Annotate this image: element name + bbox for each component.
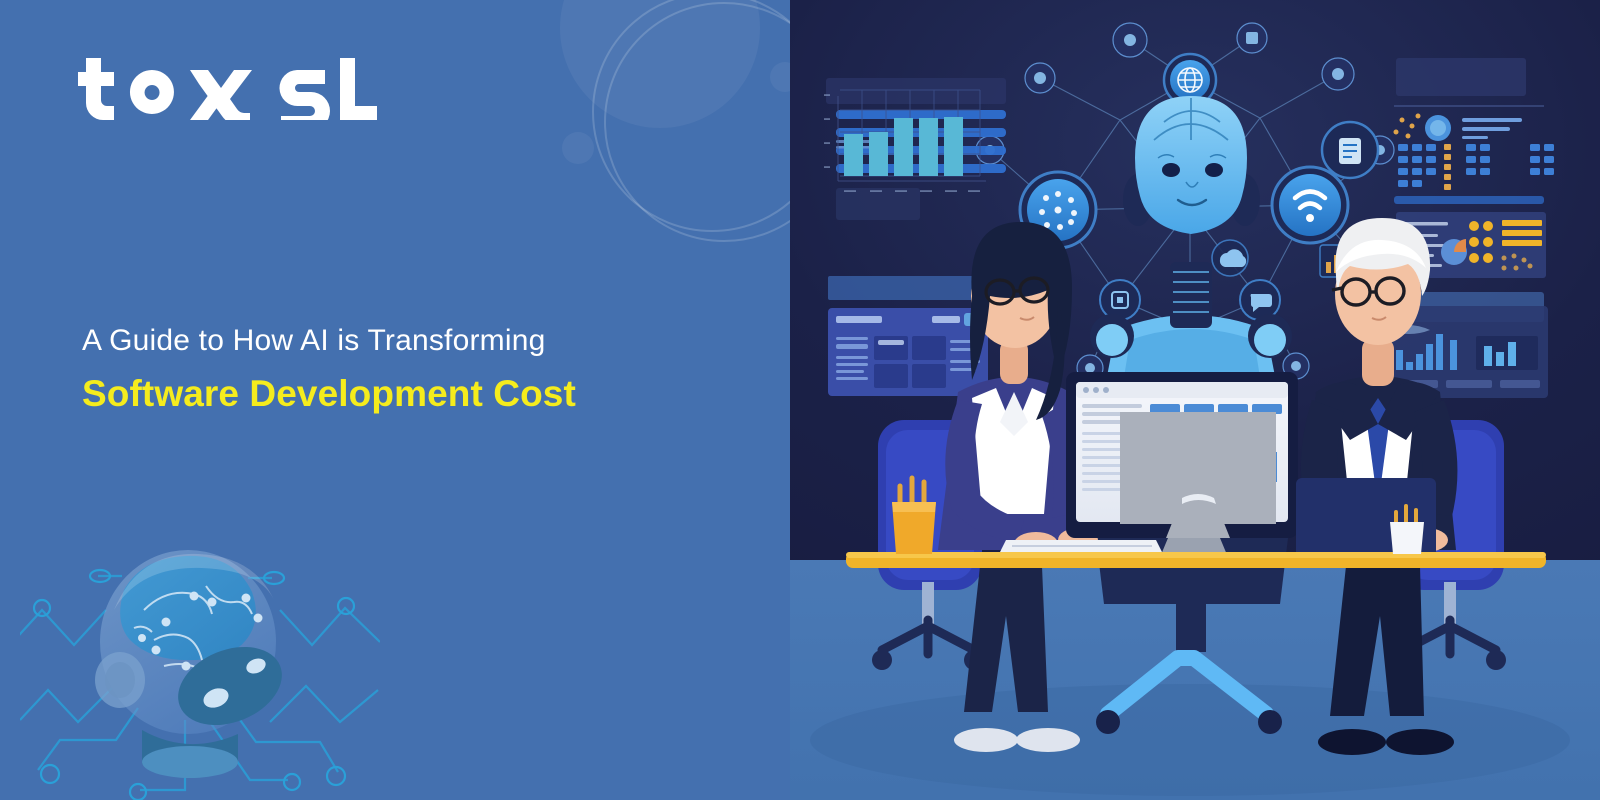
node-wifi-icon	[1272, 167, 1348, 243]
svg-text:▬: ▬	[824, 116, 830, 122]
ai-robot-head-graphic	[20, 490, 380, 800]
banner: toXSL A Guide to How AI i	[0, 0, 1600, 800]
svg-text:▬▬: ▬▬	[920, 188, 932, 194]
analytics-panel-top	[1394, 58, 1555, 204]
desk	[846, 552, 1546, 568]
svg-text:▬▬: ▬▬	[968, 188, 980, 194]
keyboard	[1000, 540, 1162, 552]
bar-chart: ▬▬ ▬▬ ▬▬▬▬▬▬ ▬▬▬▬▬▬	[824, 90, 986, 194]
desktop-monitor	[1066, 372, 1298, 562]
node-chat-icon	[1240, 280, 1280, 320]
svg-text:▬▬: ▬▬	[870, 188, 882, 194]
left-content-panel: toXSL A Guide to How AI i	[0, 0, 790, 800]
decorative-circle-small-left	[562, 132, 594, 164]
svg-text:▬▬: ▬▬	[844, 188, 856, 194]
toxsl-wordmark-logo	[78, 48, 378, 120]
headline-line-1: A Guide to How AI is Transforming	[82, 322, 742, 360]
ai-illustration-panel: ▬▬ ▬▬ ▬▬▬▬▬▬ ▬▬▬▬▬▬	[790, 0, 1600, 800]
node-chip-icon	[1100, 280, 1140, 320]
illustration-svg: ▬▬ ▬▬ ▬▬▬▬▬▬ ▬▬▬▬▬▬	[790, 0, 1600, 800]
toxsl-logo[interactable]: toXSL	[78, 48, 378, 120]
dashboard-panel	[828, 276, 988, 396]
node-cloud-icon	[1212, 240, 1248, 276]
node-document-icon	[1322, 122, 1378, 178]
svg-text:▬: ▬	[824, 164, 830, 170]
headline-block: A Guide to How AI is Transforming Softwa…	[82, 322, 742, 416]
bar-chart-panel: ▬▬ ▬▬ ▬▬▬▬▬▬ ▬▬▬▬▬▬	[824, 78, 1006, 220]
svg-text:▬▬: ▬▬	[895, 188, 907, 194]
humanoid-ai-robot	[1090, 96, 1292, 402]
svg-text:▬: ▬	[824, 92, 830, 98]
svg-text:▬▬: ▬▬	[945, 188, 957, 194]
headline-line-2: Software Development Cost	[82, 372, 742, 416]
svg-text:▬: ▬	[824, 140, 830, 146]
